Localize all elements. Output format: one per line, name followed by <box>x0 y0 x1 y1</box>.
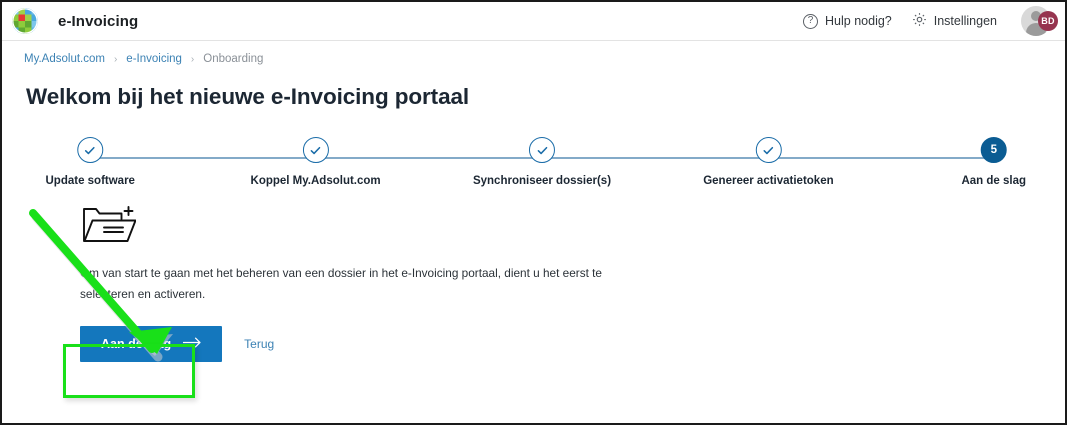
settings-label: Instellingen <box>934 14 997 28</box>
page-title: Welkom bij het nieuwe e-Invoicing portaa… <box>26 84 1065 110</box>
stepper-label-4: Genereer activatietoken <box>703 175 833 187</box>
aan-de-slag-label: Aan de slag <box>101 337 171 351</box>
stepper-step-2[interactable]: Koppel My.Adsolut.com <box>251 137 381 187</box>
gear-icon <box>912 12 927 30</box>
app-window: e-Invoicing ? Hulp nodig? Instellingen <box>0 0 1067 425</box>
breadcrumb: My.Adsolut.com › e-Invoicing › Onboardin… <box>2 41 1065 65</box>
avatar-initials-badge: BD <box>1038 11 1058 31</box>
breadcrumb-item-e-invoicing[interactable]: e-Invoicing <box>126 53 182 65</box>
stepper-label-2: Koppel My.Adsolut.com <box>251 175 381 187</box>
stepper-step-3[interactable]: Synchroniseer dossier(s) <box>473 137 611 187</box>
breadcrumb-separator-icon: › <box>191 54 194 65</box>
check-icon <box>303 137 329 163</box>
breadcrumb-separator-icon: › <box>114 54 117 65</box>
help-label: Hulp nodig? <box>825 14 892 28</box>
arrow-right-icon <box>183 337 201 351</box>
question-circle-icon: ? <box>803 14 818 29</box>
stepper-label-3: Synchroniseer dossier(s) <box>473 175 611 187</box>
stepper-step-1[interactable]: Update software <box>45 137 134 187</box>
aan-de-slag-button[interactable]: Aan de slag <box>80 326 222 362</box>
check-icon <box>77 137 103 163</box>
check-icon <box>755 137 781 163</box>
stepper-step-4[interactable]: Genereer activatietoken <box>703 137 833 187</box>
breadcrumb-item-my-adsolut[interactable]: My.Adsolut.com <box>24 53 105 65</box>
onboarding-stepper: Update software Koppel My.Adsolut.com Sy… <box>2 137 1065 195</box>
help-button[interactable]: ? Hulp nodig? <box>803 14 892 29</box>
top-bar: e-Invoicing ? Hulp nodig? Instellingen <box>2 2 1065 41</box>
adsolut-globe-logo[interactable] <box>12 8 38 34</box>
stepper-number-5: 5 <box>981 137 1007 163</box>
top-bar-actions: ? Hulp nodig? Instellingen BD <box>803 6 1051 36</box>
app-title: e-Invoicing <box>58 13 138 30</box>
onboarding-description: Om van start te gaan met het beheren van… <box>80 263 610 304</box>
action-row: Aan de slag Terug <box>80 326 1065 362</box>
main-content: Om van start te gaan met het beheren van… <box>2 203 1065 362</box>
settings-button[interactable]: Instellingen <box>912 12 997 30</box>
stepper-label-5: Aan de slag <box>961 175 1026 187</box>
stepper-step-5[interactable]: 5 Aan de slag <box>961 137 1026 187</box>
breadcrumb-item-onboarding: Onboarding <box>203 53 263 65</box>
avatar[interactable]: BD <box>1021 6 1051 36</box>
check-icon <box>529 137 555 163</box>
stepper-label-1: Update software <box>45 175 134 187</box>
terug-link[interactable]: Terug <box>244 337 274 351</box>
folder-add-icon <box>80 203 136 247</box>
